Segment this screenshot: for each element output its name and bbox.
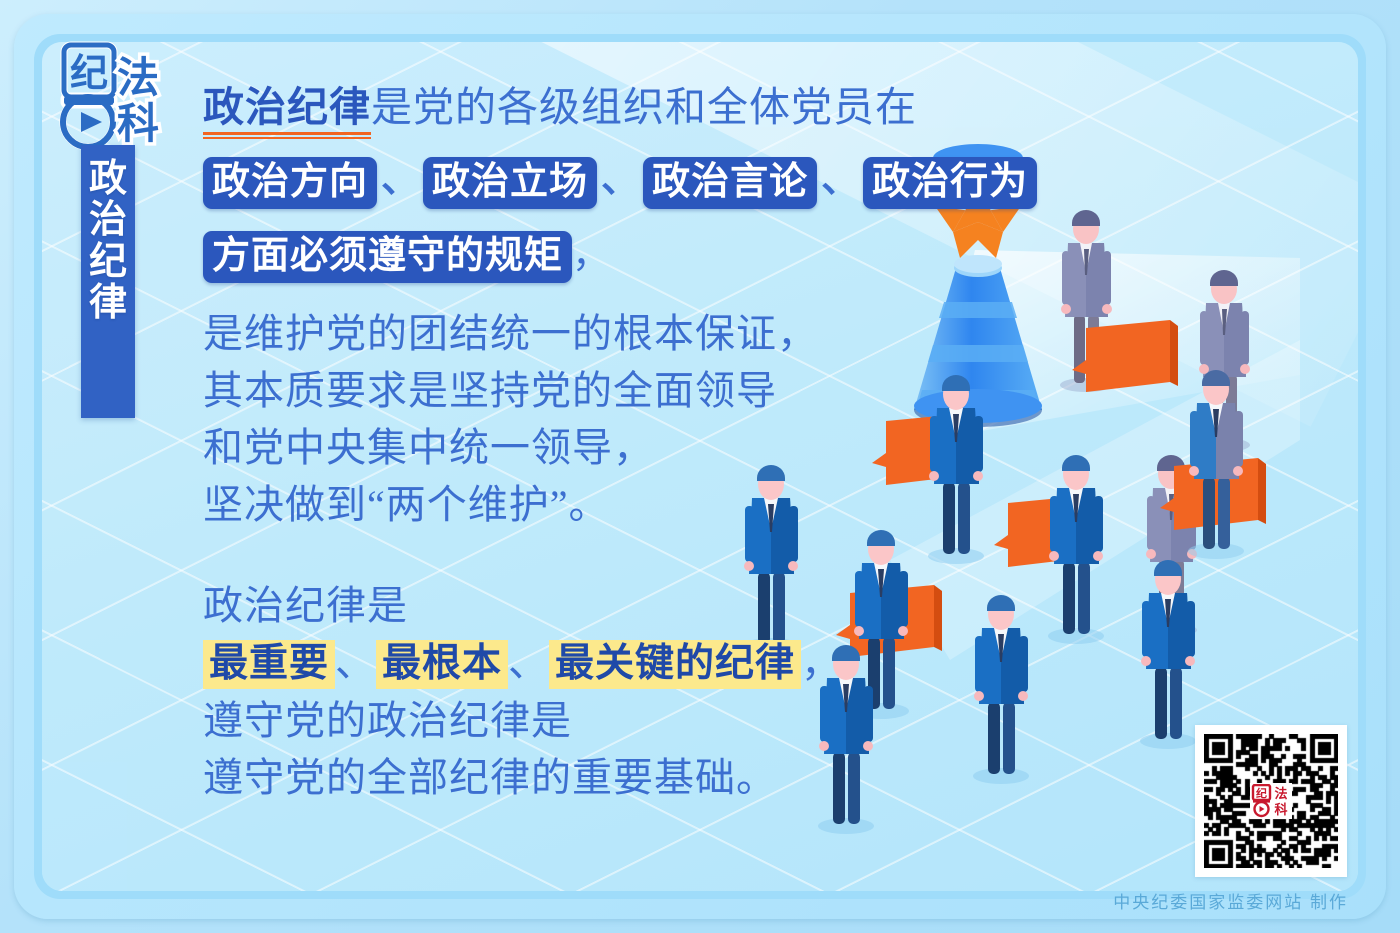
logo-char-ji: 纪: [70, 53, 108, 95]
paragraph-1-line-4: 坚决做到“两个维护”。: [203, 476, 1043, 533]
tag-row-1: 政治方向、政治立场、政治言论、政治行为: [203, 150, 1043, 209]
paragraph-1-line-2: 其本质要求是坚持党的全面领导: [203, 362, 1043, 419]
vertical-title-char-3: 律: [89, 283, 127, 324]
paragraph-1: 是维护党的团结统一的根本保证， 其本质要求是坚持党的全面领导 和党中央集中统一领…: [203, 305, 1043, 533]
highlight-most-important: 最重要: [203, 640, 335, 689]
logo-jifa-baike: 纪 法 科: [42, 38, 170, 158]
vertical-title-char-1: 治: [89, 200, 127, 241]
paragraph-2: 政治纪律是 最重要、最根本、最关键的纪律， 遵守党的政治纪律是 遵守党的全部纪律…: [203, 577, 1043, 806]
tag-sep-2: 、: [597, 159, 643, 201]
vertical-title-char-2: 纪: [89, 242, 127, 283]
highlight-most-critical-discipline: 最关键的纪律: [549, 640, 801, 689]
hl-sep-2: 、: [508, 640, 549, 685]
hl-sep-1: 、: [335, 640, 376, 685]
paragraph-2-line-3: 遵守党的政治纪律是: [203, 692, 1043, 749]
logo-char-ke: 科: [117, 100, 159, 147]
headline-rest: 是党的各级组织和全体党员在: [371, 84, 917, 130]
highlight-most-fundamental: 最根本: [376, 640, 508, 689]
paragraph-2-line-4: 遵守党的全部纪律的重要基础。: [203, 749, 1043, 806]
paragraph-2-lead: 政治纪律是: [203, 577, 1043, 634]
tag-political-stance: 政治立场: [423, 157, 597, 209]
paragraph-2-highlight-line: 最重要、最根本、最关键的纪律，: [203, 634, 1043, 692]
svg-text:法: 法: [1274, 786, 1287, 801]
tag-rules-to-observe: 方面必须遵守的规矩: [203, 231, 572, 283]
svg-text:纪: 纪: [1256, 786, 1267, 800]
headline-keyword: 政治纪律: [203, 84, 371, 132]
credit-text: 中央纪委国家监委网站 制作: [1113, 888, 1348, 913]
tag-sep-1: 、: [377, 159, 423, 201]
brand-logo-column: 纪 法 科 政治纪律: [42, 38, 170, 158]
tag-political-direction: 政治方向: [203, 157, 377, 209]
qr-code[interactable]: 纪 法 科: [1195, 725, 1347, 877]
tag-row-2-comma: ，: [572, 234, 610, 276]
tag-political-speech: 政治言论: [643, 157, 817, 209]
paragraph-1-line-1: 是维护党的团结统一的根本保证，: [203, 305, 1043, 362]
play-icon: [81, 112, 102, 132]
headline-line: 政治纪律是党的各级组织和全体党员在: [203, 80, 1043, 134]
hl-trailing-comma: ，: [801, 640, 842, 685]
svg-text:科: 科: [1274, 802, 1287, 817]
main-text-block: 政治纪律是党的各级组织和全体党员在 政治方向、政治立场、政治言论、政治行为 方面…: [203, 80, 1043, 806]
tag-row-2: 方面必须遵守的规矩，: [203, 225, 1043, 284]
qr-center-logo: 纪 法 科: [1250, 783, 1292, 819]
logo-char-fa: 法: [117, 54, 159, 101]
poster-root: 纪 法 科 政治纪律 政治纪律是党的各级组织和全体党员在 政治方向、政治立场、政…: [0, 0, 1400, 933]
tag-sep-3: 、: [817, 159, 863, 201]
paragraph-1-line-3: 和党中央集中统一领导，: [203, 419, 1043, 476]
tag-political-conduct: 政治行为: [863, 157, 1037, 209]
vertical-title-char-0: 政: [89, 159, 127, 200]
vertical-title-banner: 政治纪律: [81, 145, 135, 418]
